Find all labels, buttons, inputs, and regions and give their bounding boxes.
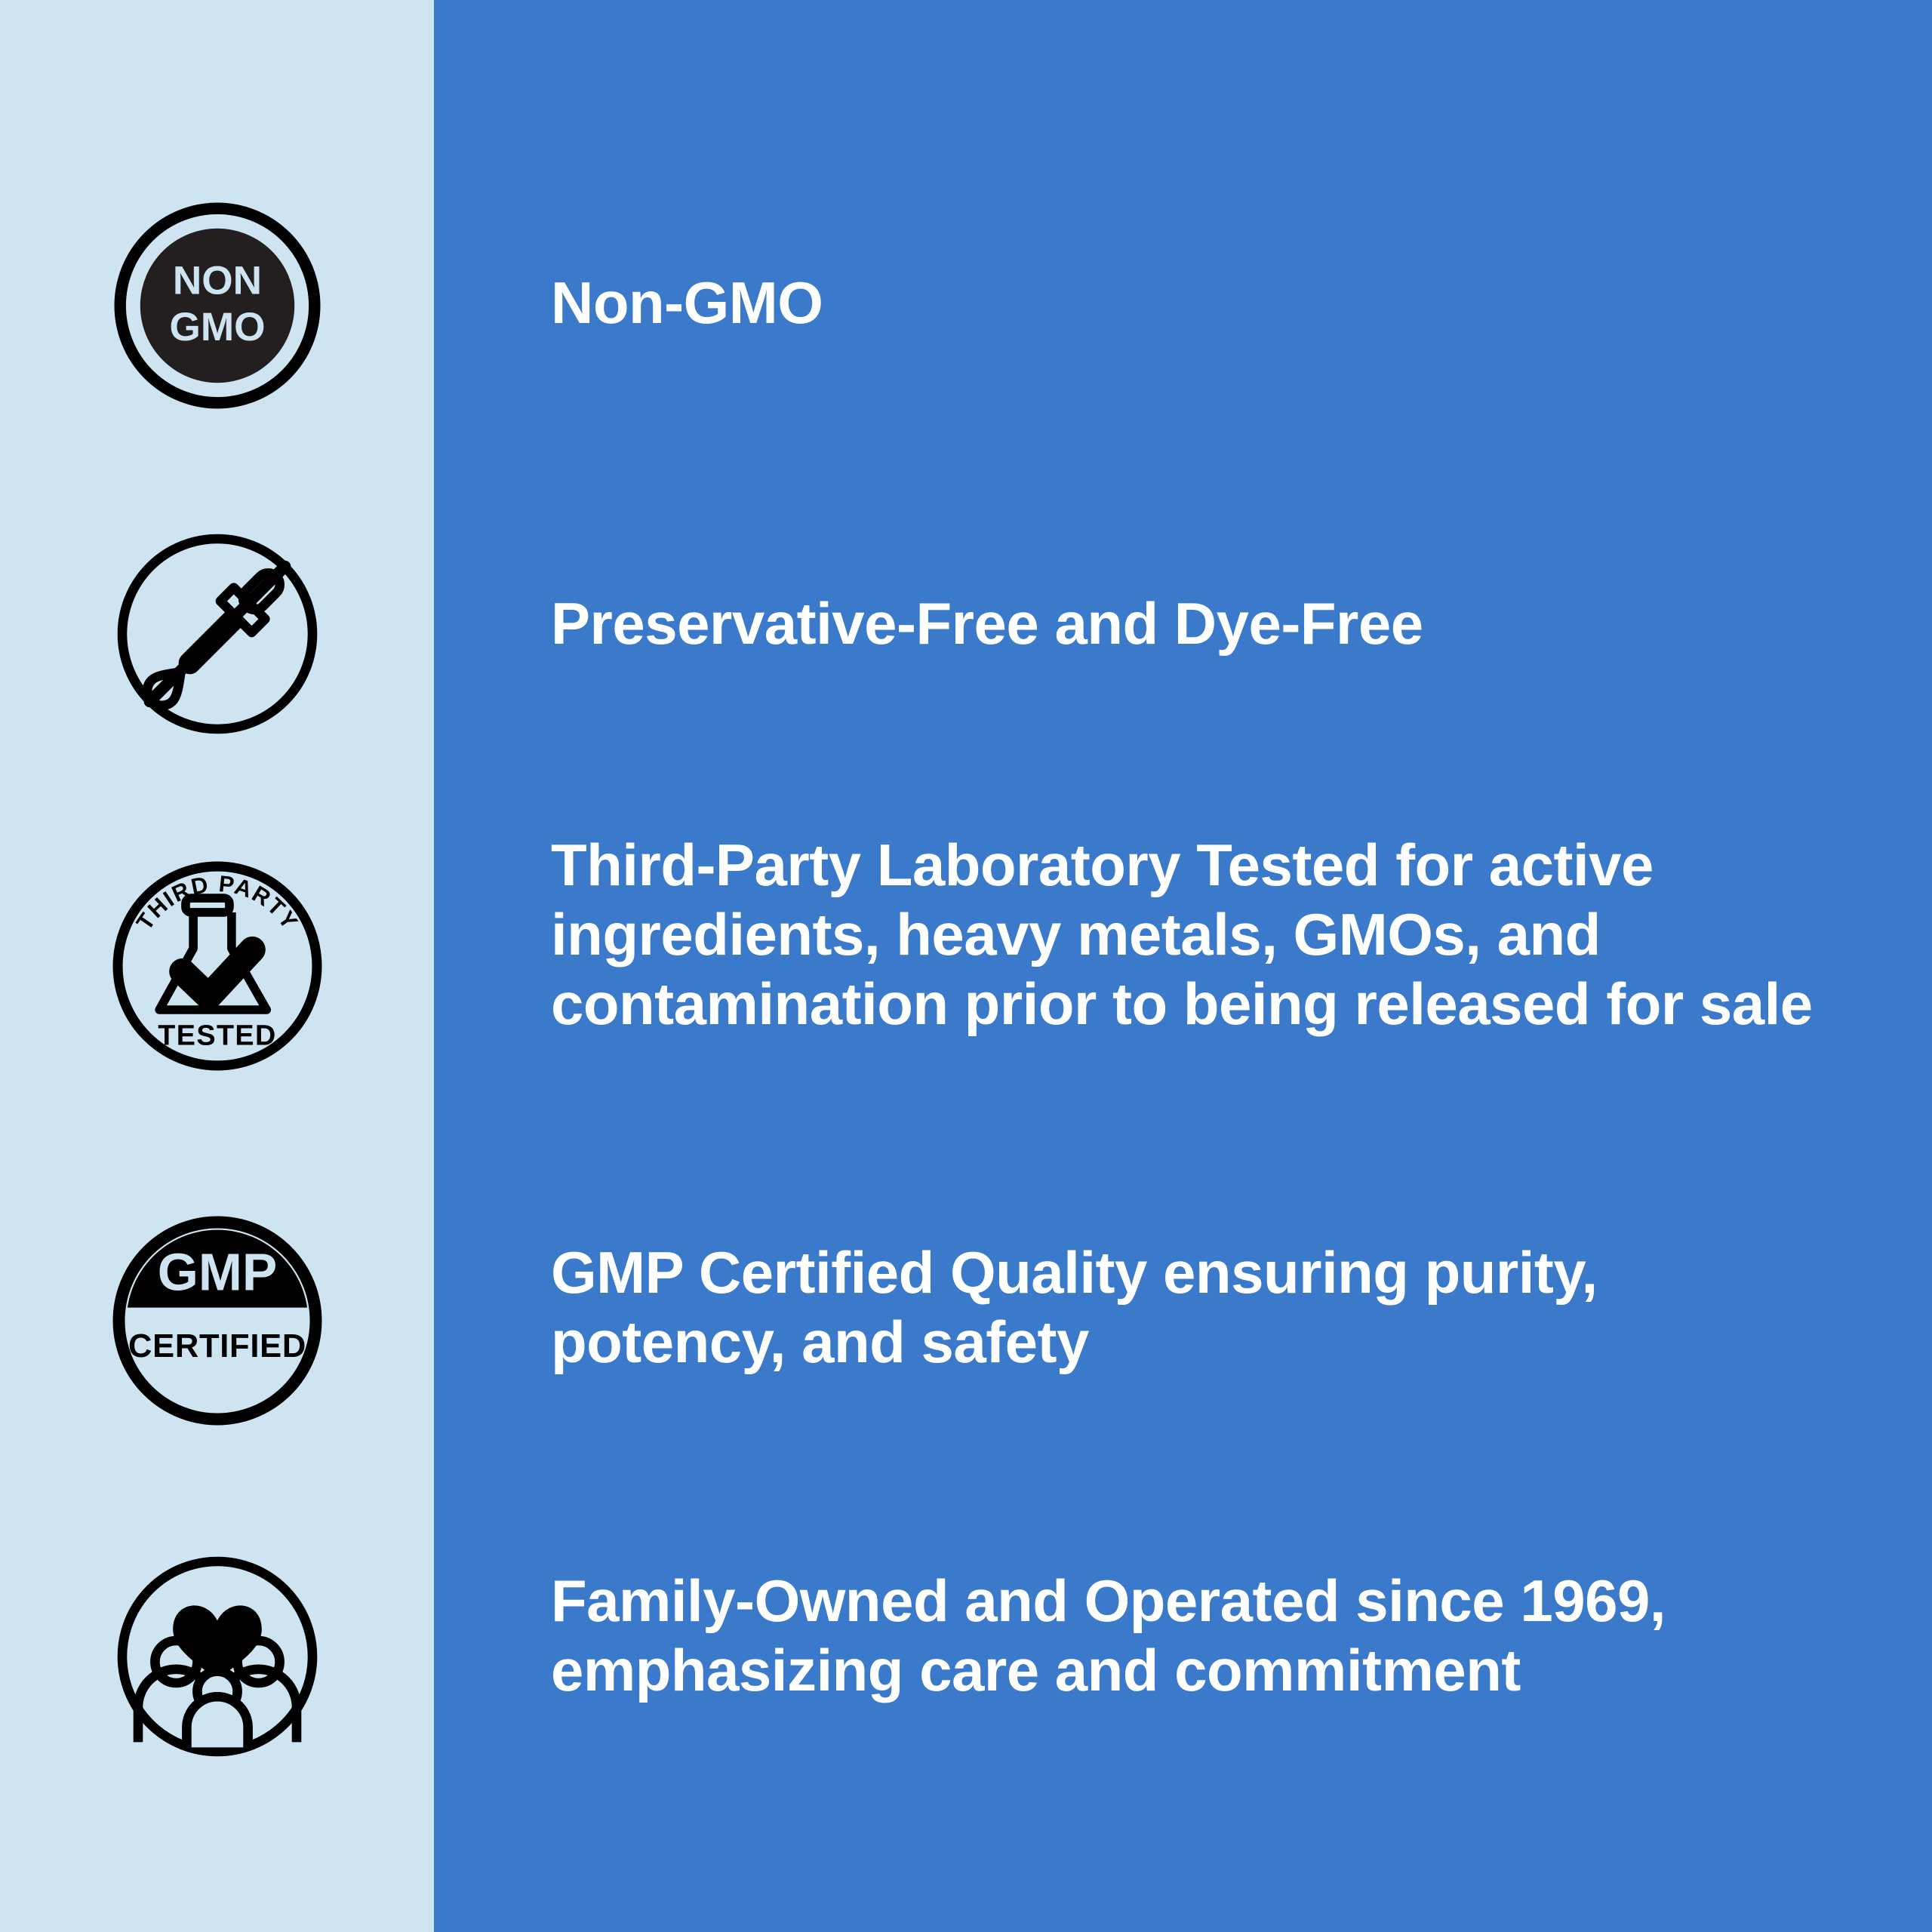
no-dropper-preservative-free-icon [112,528,323,740]
badge-slot-third-party-tested: THIRD PARTY TESTED [0,857,434,1075]
claims-panel: Non-GMO Preservative-Free and Dye-Free T… [434,0,1932,1932]
claim-row-gmp-certified: GMP Certified Quality ensuring purity, p… [551,1238,1834,1377]
claim-text-preservative-free: Preservative-Free and Dye-Free [551,589,1834,658]
claim-text-third-party-tested: Third-Party Laboratory Tested for active… [551,830,1834,1038]
certified-label: CERTIFIED [128,1328,306,1364]
claim-row-third-party-tested: Third-Party Laboratory Tested for active… [551,830,1834,1038]
claim-text-gmp-certified: GMP Certified Quality ensuring purity, p… [551,1238,1834,1377]
icon-rail: NON GMO [0,0,434,1932]
product-claims-graphic: NON GMO [0,0,1932,1932]
third-party-tested-badge-icon: THIRD PARTY TESTED [108,857,327,1075]
tested-label: TESTED [158,1019,276,1051]
badge-slot-non-gmo: NON GMO [0,200,434,411]
gmp-label: GMP [157,1242,277,1301]
claim-text-non-gmo: Non-GMO [551,268,1834,337]
family-owned-heart-icon [112,1551,323,1762]
gmp-certified-badge-icon: GMP CERTIFIED [108,1211,327,1430]
badge-slot-preservative-free [0,528,434,740]
claim-text-family-owned: Family-Owned and Operated since 1969, em… [551,1566,1834,1705]
claim-row-preservative-free: Preservative-Free and Dye-Free [551,589,1834,658]
non-gmo-badge-icon: NON GMO [112,200,323,411]
claim-row-family-owned: Family-Owned and Operated since 1969, em… [551,1566,1834,1705]
badge-slot-family-owned [0,1551,434,1762]
non-gmo-line-2: GMO [169,305,265,349]
non-gmo-line-1: NON [172,259,261,303]
claim-row-non-gmo: Non-GMO [551,268,1834,337]
badge-slot-gmp-certified: GMP CERTIFIED [0,1211,434,1430]
